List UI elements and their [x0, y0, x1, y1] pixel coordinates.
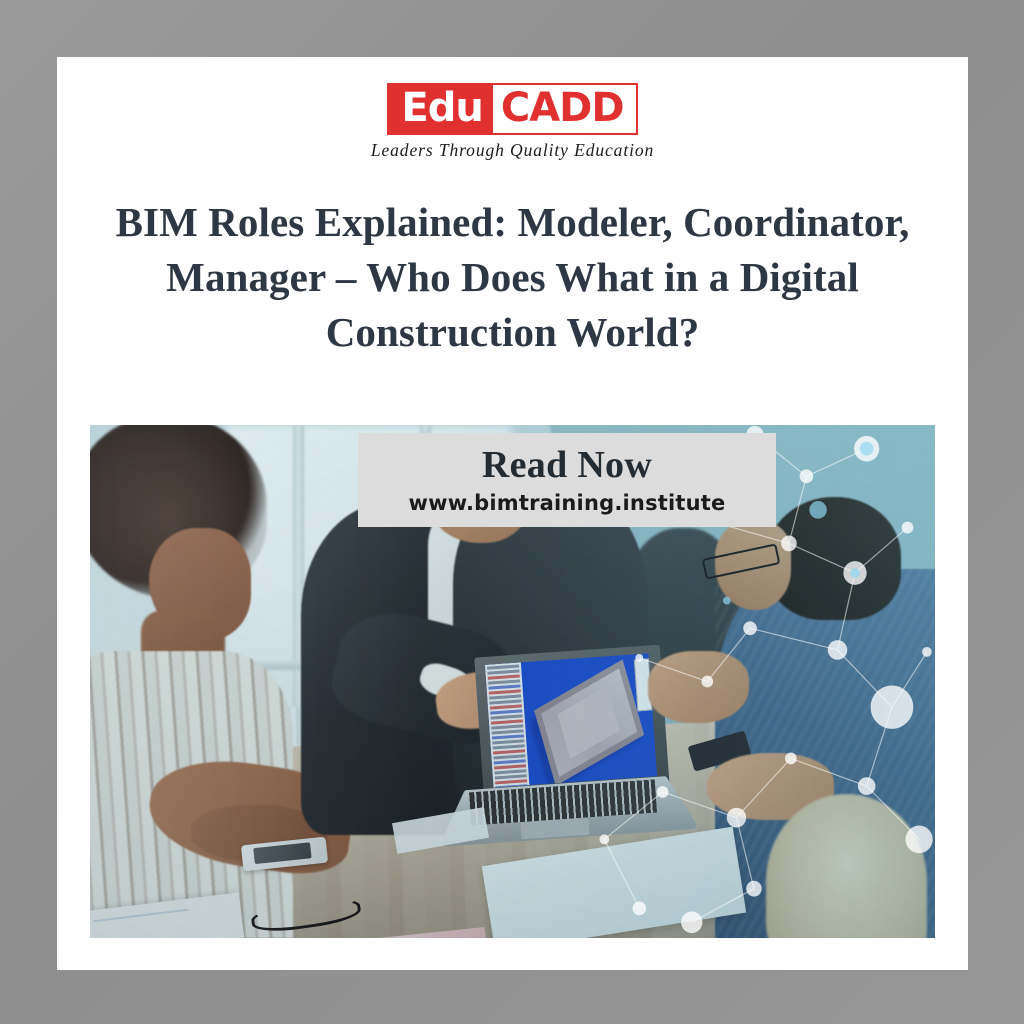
read-now-label: Read Now [482, 446, 652, 484]
page-title: BIM Roles Explained: Modeler, Coordinato… [102, 195, 923, 360]
logo-text-edu: Edu [389, 85, 492, 133]
logo-text-cadd: CADD [493, 85, 636, 133]
poster-card: Edu CADD Leaders Through Quality Educati… [57, 57, 968, 970]
read-now-badge[interactable]: Read Now www.bimtraining.institute [358, 433, 776, 527]
poster-canvas: Edu CADD Leaders Through Quality Educati… [0, 0, 1024, 1024]
logo-tagline: Leaders Through Quality Education [371, 140, 654, 161]
logo-mark: Edu CADD [387, 83, 637, 135]
website-url[interactable]: www.bimtraining.institute [409, 491, 726, 515]
brand-logo[interactable]: Edu CADD Leaders Through Quality Educati… [57, 83, 968, 161]
